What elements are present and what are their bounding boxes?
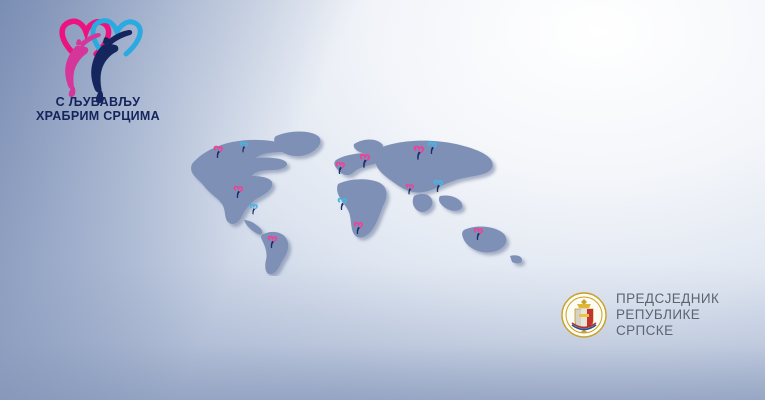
president-line-1: ПРЕДСЈЕДНИК [616, 291, 761, 307]
coat-of-arms-icon [561, 292, 607, 338]
president-label: ПРЕДСЈЕДНИК РЕПУБЛИКЕ СРПСКЕ [616, 291, 761, 339]
logo-line-2: ХРАБРИМ СРЦИМА [24, 110, 172, 124]
logo-line-1: С ЉУБАВЉУ [24, 96, 172, 110]
world-map [178, 124, 568, 276]
campaign-logo: С ЉУБАВЉУ ХРАБРИМ СРЦИМА [16, 14, 176, 132]
logo-wordmark: С ЉУБАВЉУ ХРАБРИМ СРЦИМА [24, 96, 172, 123]
poster: С ЉУБАВЉУ ХРАБРИМ СРЦИМА [0, 0, 765, 400]
president-emblem-block: ПРЕДСЈЕДНИК РЕПУБЛИКЕ СРПСКЕ [561, 286, 761, 344]
president-line-2: РЕПУБЛИКЕ СРПСКЕ [616, 307, 761, 339]
